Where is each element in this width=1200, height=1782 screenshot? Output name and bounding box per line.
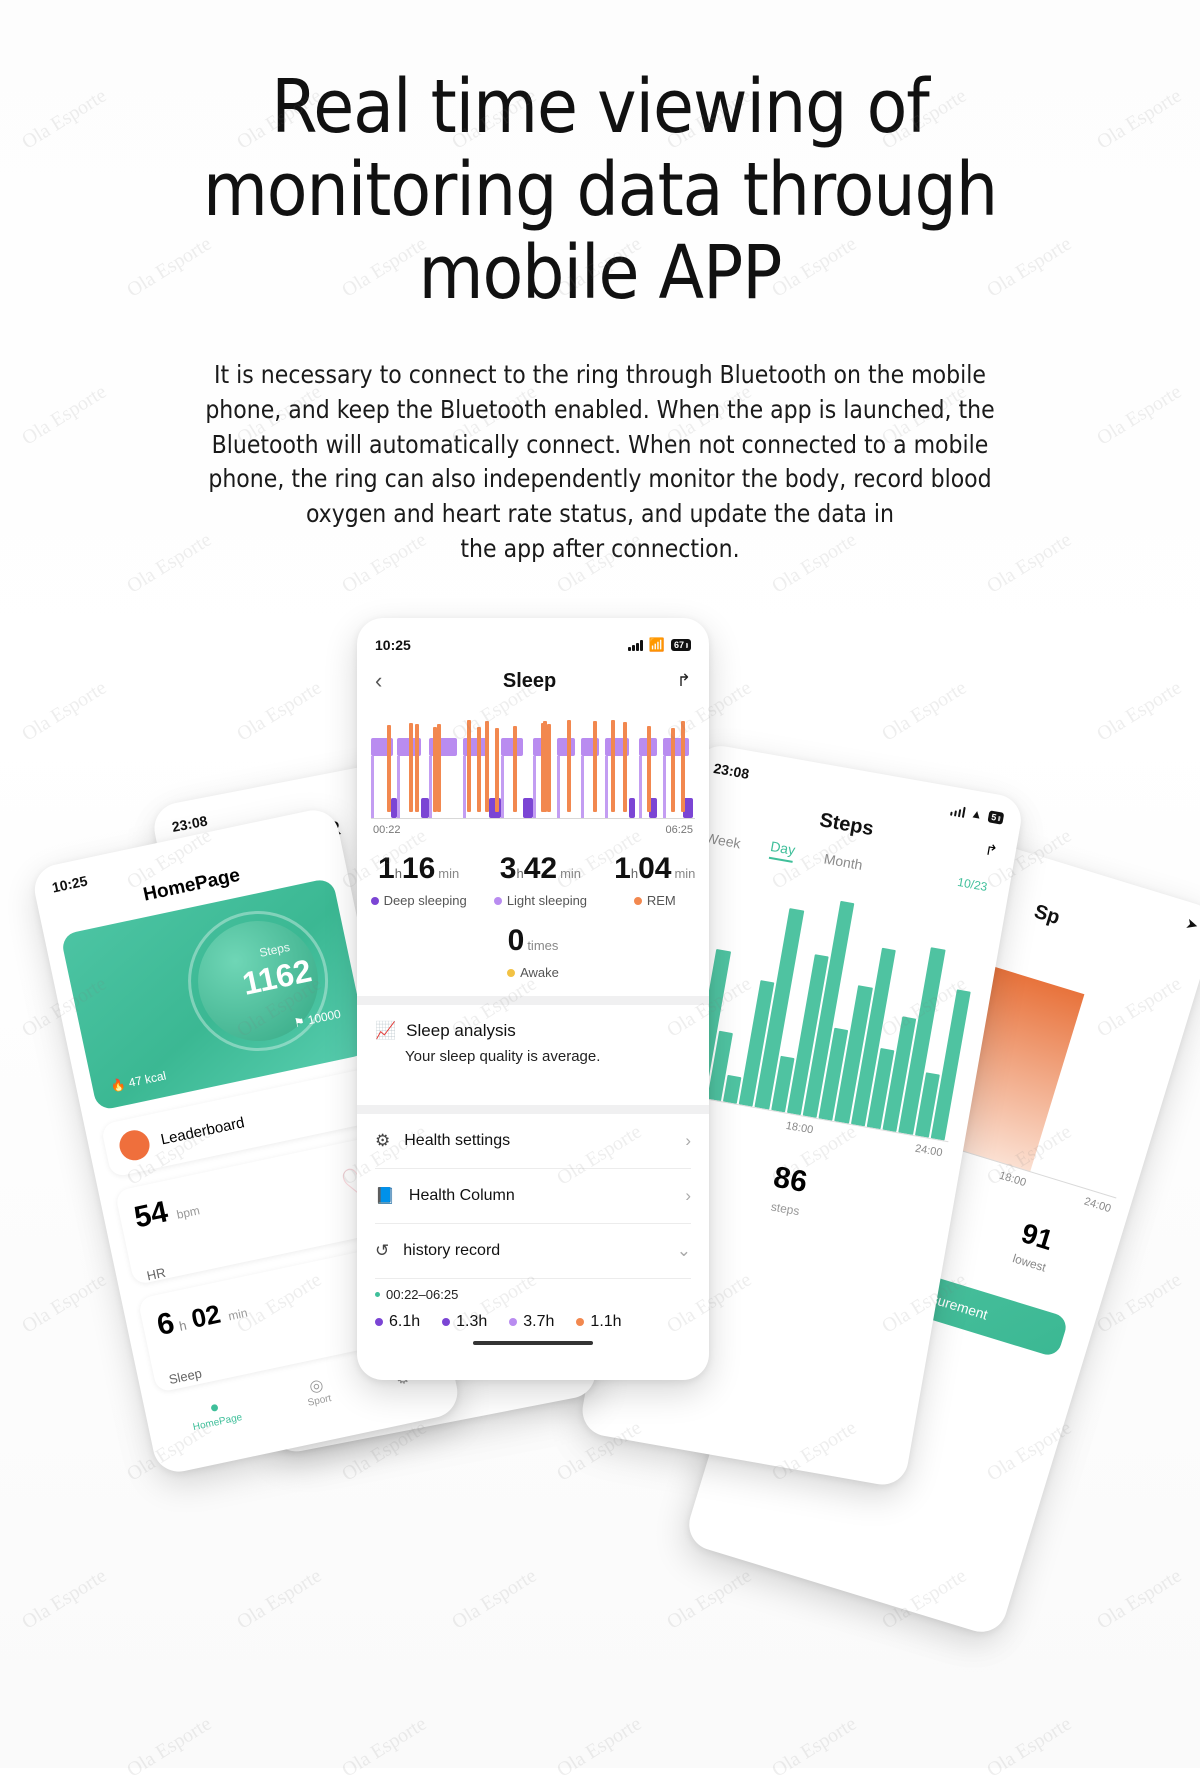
menu-label-history-record: history record xyxy=(403,1242,663,1260)
history-range: 00:22–06:25 xyxy=(386,1287,458,1302)
history-range-row: 00:22–06:25 xyxy=(375,1287,691,1302)
sleep-connector xyxy=(533,756,536,818)
sleep-back-icon[interactable]: ‹ xyxy=(375,668,382,694)
watermark-text: Ola Esporte xyxy=(773,0,866,6)
sleep-analysis-block[interactable]: 📈 Sleep analysis Your sleep quality is a… xyxy=(357,1005,709,1071)
home-status-time: 10:25 xyxy=(51,873,89,896)
menu-item-health-settings[interactable]: ⚙ Health settings › xyxy=(357,1114,709,1168)
stat-awake: 0times Awake xyxy=(357,926,709,980)
page-description: It is necessary to connect to the ring t… xyxy=(70,358,1130,567)
sleep-title: Sleep xyxy=(503,670,556,693)
watermark-text: Ola Esporte xyxy=(338,1713,431,1782)
chevron-right-icon: › xyxy=(685,1186,691,1206)
sleep-connector xyxy=(429,756,432,818)
watermark-text: Ola Esporte xyxy=(768,1713,861,1782)
home-kcal: 🔥 47 kcal xyxy=(109,1068,167,1093)
spo2-lowest-value: 91 xyxy=(1016,1217,1058,1258)
sleep-hypnogram-chart xyxy=(371,714,695,818)
description-line-5: oxygen and heart rate status, and update… xyxy=(70,497,1130,532)
history-clock-icon: ↺ xyxy=(375,1241,389,1261)
deep-sleep-segment xyxy=(391,798,397,818)
spo2-title: Sp xyxy=(1031,900,1062,929)
watermark-text: Ola Esporte xyxy=(448,1565,541,1635)
home-sleep-min: 02 xyxy=(189,1298,224,1333)
share-icon[interactable]: ↱ xyxy=(677,671,691,691)
watermark-text: Ola Esporte xyxy=(233,1565,326,1635)
rem-segment xyxy=(647,726,651,812)
chart-trend-icon: 📈 xyxy=(375,1021,396,1041)
section-divider-2 xyxy=(357,1105,709,1114)
stat-rem: 1h04min REM xyxy=(614,854,695,908)
steps-status-time: 23:08 xyxy=(712,760,750,782)
watermark-text: Ola Esporte xyxy=(553,1713,646,1782)
history-values: 6.1h 1.3h 3.7h 1.1h xyxy=(375,1313,691,1331)
home-tab-sport[interactable]: ◎ Sport xyxy=(303,1373,333,1408)
chevron-right-icon: › xyxy=(685,1131,691,1151)
stat-rem-label: REM xyxy=(647,893,676,908)
rem-segment xyxy=(547,724,551,812)
rem-segment xyxy=(387,725,391,812)
watermark-text: Ola Esporte xyxy=(558,0,651,6)
signal-icon xyxy=(950,804,966,817)
sleep-analysis-subtitle: Your sleep quality is average. xyxy=(405,1048,691,1065)
signal-icon xyxy=(628,640,643,651)
rem-segment xyxy=(495,728,499,812)
rem-segment xyxy=(593,721,597,812)
wifi-icon: 📶 xyxy=(649,637,665,653)
wifi-icon: ▲ xyxy=(970,806,984,822)
sleep-axis-start: 00:22 xyxy=(373,824,401,836)
watermark-text: Ola Esporte xyxy=(878,677,971,747)
spo2-tick-2400: 24:00 xyxy=(1083,1196,1113,1216)
rem-segment xyxy=(567,720,571,812)
rem-segment xyxy=(671,728,675,812)
sleep-connector xyxy=(463,756,466,818)
leaderboard-icon xyxy=(117,1127,153,1163)
home-hr-unit: bpm xyxy=(175,1203,201,1222)
sleep-connector xyxy=(605,756,608,818)
rem-segment xyxy=(467,720,471,812)
sleep-connector xyxy=(501,756,504,818)
rem-segment xyxy=(477,727,481,812)
home-indicator xyxy=(473,1341,593,1345)
watermark-text: Ola Esporte xyxy=(988,0,1081,6)
rem-segment xyxy=(611,720,615,812)
watermark-text: Ola Esporte xyxy=(233,677,326,747)
description-line-1: It is necessary to connect to the ring t… xyxy=(70,358,1130,393)
bullet-icon xyxy=(375,1292,380,1297)
history-light: 3.7h xyxy=(509,1313,554,1331)
battery-icon: 67 xyxy=(671,639,691,651)
steps-tick-1800: 18:00 xyxy=(785,1120,814,1137)
sleep-connector xyxy=(397,756,400,818)
spo2-tick-1800: 18:00 xyxy=(998,1170,1028,1190)
sleep-connector xyxy=(639,756,642,818)
menu-label-health-column: Health Column xyxy=(409,1187,671,1205)
spo2-lowest: 91 lowest xyxy=(1011,1217,1058,1275)
steps-tab-day[interactable]: Day xyxy=(768,838,796,863)
description-line-6: the app after connection. xyxy=(70,532,1130,567)
steps-date[interactable]: 10/23 xyxy=(956,874,988,893)
sleep-axis-line xyxy=(371,818,695,819)
history-total: 6.1h xyxy=(375,1313,420,1331)
deep-sleep-segment xyxy=(421,798,429,818)
stat-awake-label: Awake xyxy=(520,965,559,980)
steps-tab-month[interactable]: Month xyxy=(823,850,864,873)
menu-item-history-record[interactable]: ↺ history record ⌄ xyxy=(357,1224,709,1278)
gear-icon: ⚙ xyxy=(375,1131,390,1151)
watermark-text: Ola Esporte xyxy=(1093,677,1186,747)
sleep-stats-row: 1h16min Deep sleeping 3h42min Light slee… xyxy=(357,854,709,908)
book-icon: 📘 xyxy=(375,1186,395,1206)
description-line-4: phone, the ring can also independently m… xyxy=(70,462,1130,497)
stat-deep: 1h16min Deep sleeping xyxy=(371,854,467,908)
deep-sleep-segment xyxy=(629,798,635,818)
battery-icon: 5 xyxy=(987,810,1004,824)
rem-segment xyxy=(437,724,441,812)
chevron-down-icon: ⌄ xyxy=(677,1241,691,1261)
steps-tab-week[interactable]: Week xyxy=(704,829,742,851)
home-tab-homepage[interactable]: ● HomePage xyxy=(188,1394,243,1433)
steps-bar xyxy=(930,989,970,1141)
home-hr-value: 54 xyxy=(131,1195,171,1234)
sleep-connector xyxy=(557,756,560,818)
watermark-text: Ola Esporte xyxy=(18,1565,111,1635)
hr-status-time: 23:08 xyxy=(171,812,209,835)
sleep-status-icons: 📶 67 xyxy=(628,637,691,653)
watermark-text: Ola Esporte xyxy=(128,0,221,6)
home-leaderboard-label: Leaderboard xyxy=(159,1114,246,1148)
stat-light: 3h42min Light sleeping xyxy=(494,854,587,908)
steps-share-icon[interactable]: ↱ xyxy=(984,840,1000,860)
sleep-axis-labels: 00:22 06:25 xyxy=(373,824,693,836)
watermark-text: Ola Esporte xyxy=(343,0,436,6)
watermark-text: Ola Esporte xyxy=(1093,1565,1186,1635)
sleep-phone: 10:25 📶 67 ‹ Sleep ↱ 00:22 06:25 1h16min… xyxy=(357,618,709,1380)
page-title: Real time viewing of monitoring data thr… xyxy=(0,66,1200,315)
home-sleep-unit-h: h xyxy=(178,1318,188,1334)
menu-label-health-settings: Health settings xyxy=(404,1132,671,1150)
rem-segment xyxy=(409,723,413,812)
watermark-text: Ola Esporte xyxy=(18,1269,111,1339)
description-line-2: phone, and keep the Bluetooth enabled. W… xyxy=(70,393,1130,428)
watermark-text: Ola Esporte xyxy=(123,1713,216,1782)
history-deep: 1.3h xyxy=(442,1313,487,1331)
light-sleep-segment xyxy=(501,738,523,756)
headline-line-1: Real time viewing of xyxy=(0,66,1200,149)
description-line-3: Bluetooth will automatically connect. Wh… xyxy=(70,428,1130,463)
sleep-axis-end: 06:25 xyxy=(665,824,693,836)
home-sleep-unit-m: min xyxy=(227,1306,249,1324)
sleep-analysis-title: Sleep analysis xyxy=(406,1021,516,1041)
steps-status-icons: ▲ 5 xyxy=(949,803,1004,826)
stat-deep-label: Deep sleeping xyxy=(384,893,467,908)
watermark-text: Ola Esporte xyxy=(0,0,5,6)
menu-item-health-column[interactable]: 📘 Health Column › xyxy=(357,1169,709,1223)
rem-segment xyxy=(485,721,489,812)
rem-segment xyxy=(513,726,517,812)
sleep-connector xyxy=(663,756,666,818)
watermark-text: Ola Esporte xyxy=(983,1713,1076,1782)
light-sleep-segment xyxy=(663,738,689,756)
promo-page: Real time viewing of monitoring data thr… xyxy=(0,0,1200,1768)
headline-line-2: monitoring data through xyxy=(0,149,1200,232)
watermark-text: Ola Esporte xyxy=(18,677,111,747)
rem-segment xyxy=(681,721,685,812)
home-sleep-value: 6 xyxy=(154,1306,177,1342)
sleep-status-time: 10:25 xyxy=(375,637,411,653)
steps-tick-2400: 24:00 xyxy=(914,1143,943,1160)
light-sleep-segment xyxy=(557,738,575,756)
watermark-text: Ola Esporte xyxy=(663,1565,756,1635)
section-divider-1 xyxy=(357,996,709,1005)
deep-sleep-segment xyxy=(523,798,533,818)
stat-light-label: Light sleeping xyxy=(507,893,587,908)
sleep-connector xyxy=(581,756,584,818)
sleep-connector xyxy=(371,756,374,818)
headline-line-3: mobile APP xyxy=(0,232,1200,315)
rem-segment xyxy=(415,724,419,812)
history-entry[interactable]: 00:22–06:25 6.1h 1.3h 3.7h 1.1h xyxy=(357,1279,709,1331)
rem-segment xyxy=(623,722,627,812)
history-rem: 1.1h xyxy=(576,1313,621,1331)
spo2-status-icons: ➤ xyxy=(1184,915,1199,933)
steps-title: Steps xyxy=(818,809,876,841)
